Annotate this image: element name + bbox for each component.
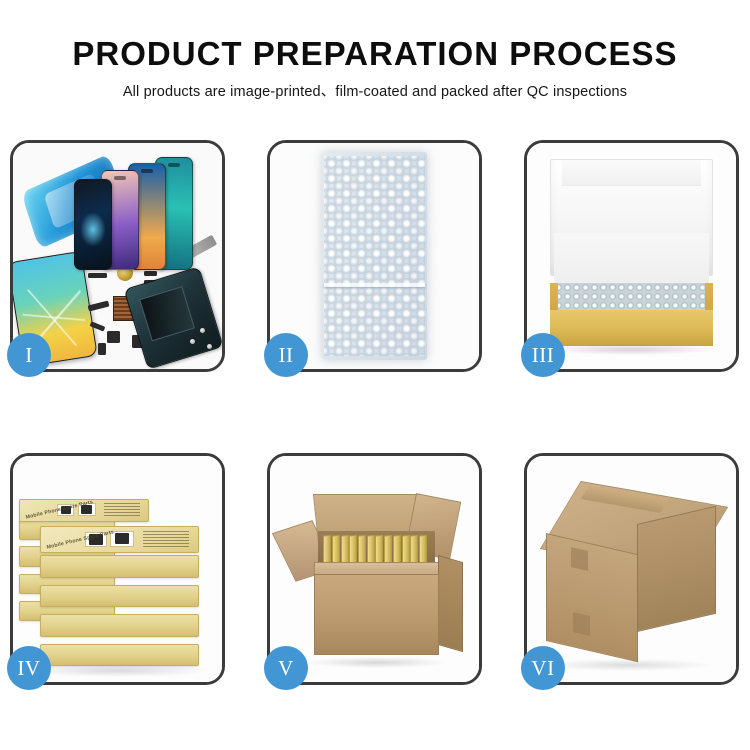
step-panel-2: II xyxy=(267,140,482,372)
drop-shadow xyxy=(308,657,446,668)
kraft-box-side xyxy=(40,614,199,637)
drop-shadow xyxy=(26,664,210,678)
screw-icon xyxy=(207,344,212,349)
kraft-box-top-front: Mobile Phone Spare Parts xyxy=(40,526,199,553)
step-panel-5: V xyxy=(267,453,482,685)
step-image-5 xyxy=(270,456,479,682)
earpiece-mesh-icon xyxy=(88,273,107,279)
kraft-box-side xyxy=(40,585,199,608)
step-panel-1: I xyxy=(10,140,225,372)
carton-right-face xyxy=(637,505,716,632)
open-carton-illustration xyxy=(270,456,479,682)
phone-screen-icon xyxy=(74,179,112,269)
box-spec-lines xyxy=(143,531,188,547)
step-panel-3: III xyxy=(524,140,739,372)
step-badge-4: IV xyxy=(7,646,51,690)
speaker-icon xyxy=(107,331,119,342)
page-subtitle: All products are image-printed、film-coat… xyxy=(0,83,750,102)
step-badge-6: VI xyxy=(521,646,565,690)
product-preparation-page: PRODUCT PREPARATION PROCESS All products… xyxy=(0,0,750,750)
step-panel-4: Mobile Phone Spare Parts Mobile Phone Sp… xyxy=(10,453,225,685)
box-base-front xyxy=(550,310,713,346)
carton-front-face xyxy=(314,574,439,655)
bubble-pattern-offset xyxy=(324,156,424,356)
carton-tab xyxy=(571,547,588,571)
step-image-6 xyxy=(527,456,736,682)
step-image-4: Mobile Phone Spare Parts Mobile Phone Sp… xyxy=(13,456,222,682)
step-image-3 xyxy=(527,143,736,369)
step-panel-6: VI xyxy=(524,453,739,685)
step-badge-5: V xyxy=(264,646,308,690)
sim-tray-icon xyxy=(98,343,107,355)
button-flex-icon xyxy=(144,271,157,277)
kraft-box-side xyxy=(40,555,199,578)
step-badge-3: III xyxy=(521,333,565,377)
box-spec-lines xyxy=(104,503,140,516)
step-image-2 xyxy=(270,143,479,369)
drop-shadow xyxy=(544,659,711,670)
stacked-boxes-illustration: Mobile Phone Spare Parts Mobile Phone Sp… xyxy=(13,456,222,682)
carton-tab xyxy=(573,612,590,636)
phone-parts-illustration xyxy=(13,143,222,369)
sealed-carton-illustration xyxy=(527,456,736,682)
kraft-box-side xyxy=(40,644,199,667)
step-badge-2: II xyxy=(264,333,308,377)
drop-shadow xyxy=(548,344,715,355)
carton-side-right xyxy=(438,555,463,653)
screw-icon xyxy=(190,339,195,344)
step-image-1 xyxy=(13,143,222,369)
page-title: PRODUCT PREPARATION PROCESS xyxy=(0,34,750,74)
carton-left-face xyxy=(546,533,638,663)
bubble-wrap-illustration xyxy=(270,143,479,369)
kraft-box-top-rear: Mobile Phone Spare Parts xyxy=(19,499,149,522)
white-box-illustration xyxy=(527,143,736,369)
flex-cable-icon xyxy=(90,321,106,331)
flex-cable-icon xyxy=(88,301,110,312)
screen-glow xyxy=(80,212,106,247)
process-steps-grid: I II xyxy=(10,140,740,685)
bubble-wrap-pouch-icon xyxy=(322,152,427,360)
step-badge-1: I xyxy=(7,333,51,377)
bubble-seam xyxy=(324,283,424,287)
page-header: PRODUCT PREPARATION PROCESS All products… xyxy=(0,34,750,102)
